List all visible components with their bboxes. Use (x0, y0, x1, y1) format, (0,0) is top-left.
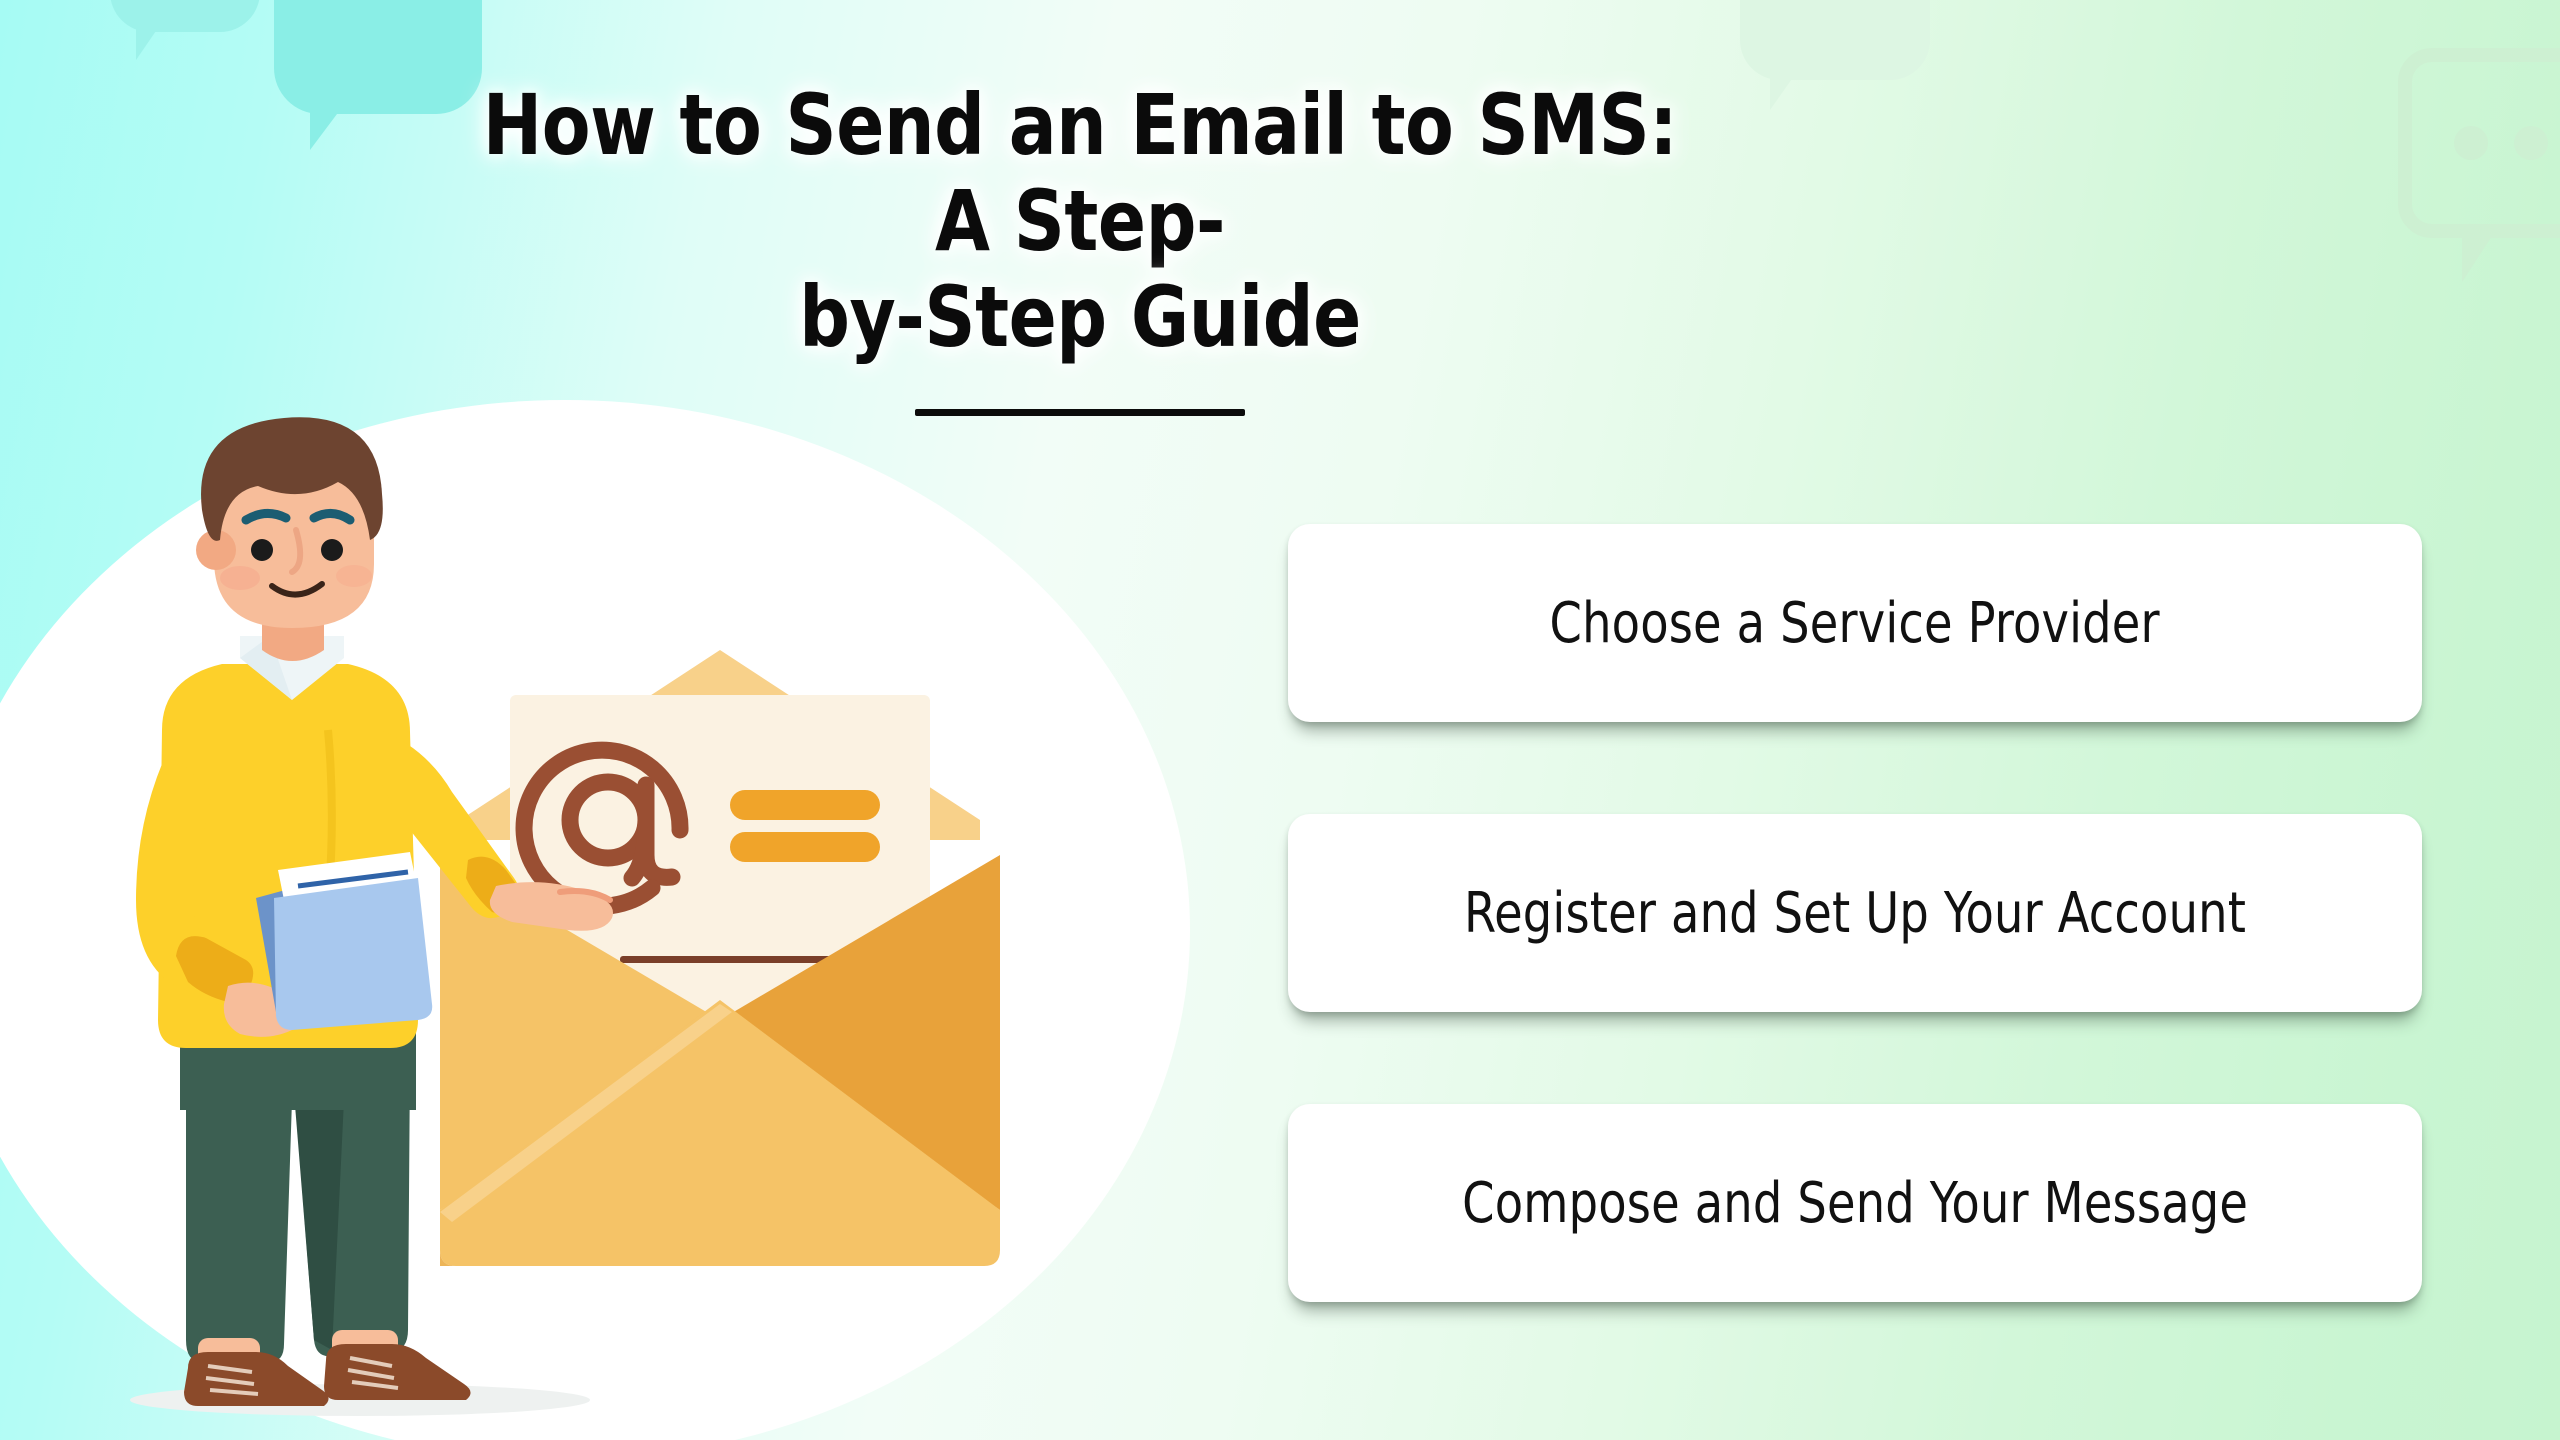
step-label: Compose and Send Your Message (1462, 1171, 2248, 1236)
header: How to Send an Email to SMS: A Step-by-S… (440, 78, 1720, 416)
bubble-tail (310, 110, 340, 150)
step-label: Choose a Service Provider (1550, 591, 2160, 656)
letter-bar (730, 832, 880, 862)
page-title: How to Send an Email to SMS: A Step-by-S… (478, 78, 1681, 365)
shoe-left (184, 1352, 329, 1406)
illustration-graphic (0, 400, 1230, 1440)
bubble-tail (136, 28, 158, 60)
bubble-body (1740, 0, 1930, 80)
bubble-body (110, 0, 260, 32)
step-card-3[interactable]: Compose and Send Your Message (1288, 1104, 2422, 1302)
bubble-outline (2398, 48, 2560, 238)
cheek-left (220, 566, 260, 590)
step-label: Register and Set Up Your Account (1464, 881, 2246, 946)
folder-with-documents (256, 852, 432, 1030)
envelope-illustration (440, 650, 1000, 1266)
page-title-line-2: by-Step Guide (799, 268, 1361, 366)
shoe-right (324, 1344, 471, 1400)
infographic-canvas: How to Send an Email to SMS: A Step-by-S… (0, 0, 2560, 1440)
eye-right (321, 539, 343, 561)
bubble-dot (2514, 126, 2548, 160)
bubble-dot (2454, 126, 2488, 160)
bubble-tail (2462, 236, 2492, 282)
steps-list: Choose a Service Provider Register and S… (1288, 524, 2422, 1302)
letter-bar (730, 790, 880, 820)
folder-front (274, 878, 432, 1030)
step-card-2[interactable]: Register and Set Up Your Account (1288, 814, 2422, 1012)
page-title-line-1: How to Send an Email to SMS: A Step- (483, 76, 1677, 270)
chat-bubble-icon-header (1740, 0, 1930, 80)
title-divider (915, 409, 1245, 416)
cheek-right (336, 565, 372, 587)
illustration (0, 400, 1230, 1440)
chat-bubble-icon-top-left-small (110, 0, 260, 32)
step-card-1[interactable]: Choose a Service Provider (1288, 524, 2422, 722)
bubble-tail (1770, 76, 1794, 110)
eye-left (251, 539, 273, 561)
chat-bubble-icon-top-right (2398, 48, 2560, 238)
